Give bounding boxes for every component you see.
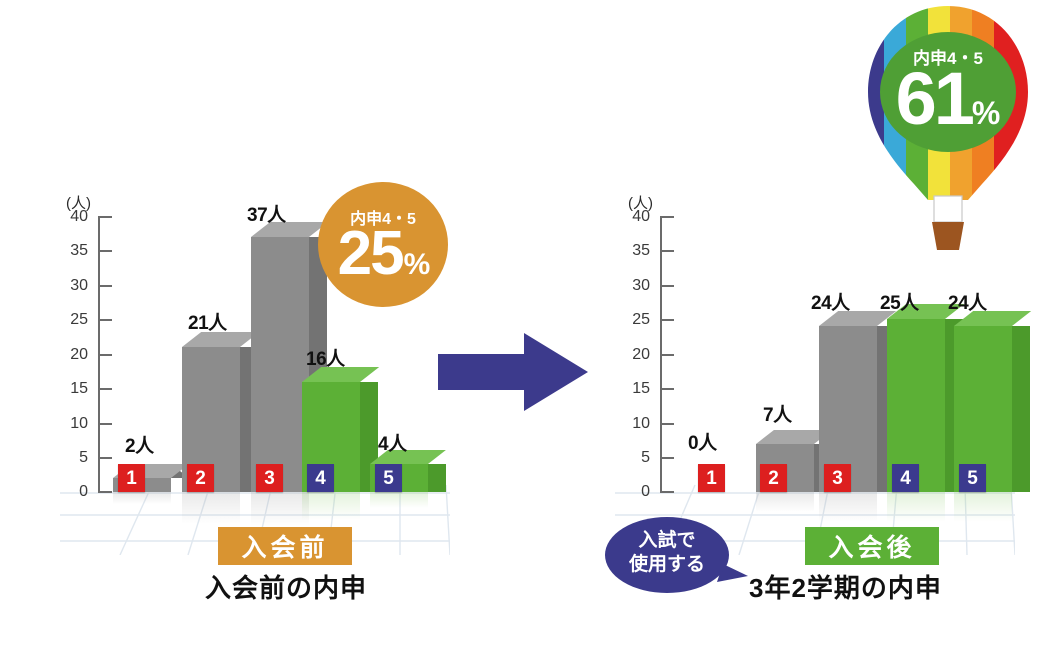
- bar-badge-2: 2: [187, 464, 214, 492]
- before-percent-badge-value: 25 %: [338, 223, 429, 285]
- left-tick-label-10: 10: [62, 415, 88, 433]
- balloon-label-disc: [880, 32, 1016, 152]
- bar-badge-2: 2: [760, 464, 787, 492]
- bar-reflection: [819, 492, 877, 522]
- right-tick-label-5: 5: [624, 449, 650, 467]
- right-tick-10: [660, 423, 674, 425]
- right-tick-15: [660, 388, 674, 390]
- before-percent-badge: 内申4・5 25 %: [318, 182, 448, 307]
- bar-front: [251, 237, 309, 492]
- bar-reflection: [954, 492, 1012, 522]
- exam-use-speech-bubble: 入試で 使用する: [605, 514, 750, 600]
- bar-value-label-1: 0人: [688, 428, 717, 455]
- left-tick-30: [98, 285, 112, 287]
- right-tick-label-15: 15: [624, 380, 650, 398]
- before-caption-text: 入会前の内申: [205, 568, 367, 605]
- right-tick-0: [660, 491, 674, 493]
- right-tick-label-25: 25: [624, 311, 650, 329]
- speech-bubble-line-1: 入試で: [605, 529, 729, 553]
- bar-value-label-3: 37人: [247, 200, 286, 227]
- bar-value-label-2: 7人: [763, 400, 792, 427]
- bar-side: [1012, 326, 1030, 492]
- left-tick-0: [98, 491, 112, 493]
- after-percent-balloon: 内申4・5 61%: [848, 0, 1048, 250]
- bar-reflection: [251, 492, 309, 526]
- right-tick-label-40: 40: [624, 208, 650, 226]
- bar-badge-4: 4: [892, 464, 919, 492]
- left-tick-25: [98, 319, 112, 321]
- before-percent-sign: %: [404, 250, 429, 280]
- bar-reflection: [302, 492, 360, 520]
- bar-reflection: [756, 492, 814, 512]
- bar-value-label-2: 21人: [188, 308, 227, 335]
- bar-badge-5: 5: [375, 464, 402, 492]
- left-tick-20: [98, 354, 112, 356]
- bar-badge-3: 3: [824, 464, 851, 492]
- infographic-canvas: (人) 40 35 30 25 20 15 10 5 0 2人 1: [0, 0, 1063, 657]
- right-tick-label-10: 10: [624, 415, 650, 433]
- right-tick-label-35: 35: [624, 242, 650, 260]
- after-caption-text: 3年2学期の内申: [749, 568, 942, 605]
- left-tick-label-20: 20: [62, 346, 88, 364]
- bar-value-label-4: 16人: [306, 344, 345, 371]
- bar-badge-5: 5: [959, 464, 986, 492]
- balloon-neck: [934, 196, 962, 222]
- before-caption-box: 入会前: [218, 527, 352, 565]
- balloon-basket: [932, 222, 964, 250]
- bar-badge-4: 4: [307, 464, 334, 492]
- bar-value-label-3: 24人: [811, 288, 850, 315]
- left-tick-label-5: 5: [62, 449, 88, 467]
- speech-bubble-line-2: 使用する: [605, 553, 729, 577]
- right-tick-30: [660, 285, 674, 287]
- left-tick-40: [98, 216, 112, 218]
- bar-badge-1: 1: [698, 464, 725, 492]
- left-tick-35: [98, 250, 112, 252]
- right-tick-label-20: 20: [624, 346, 650, 364]
- left-tick-label-15: 15: [62, 380, 88, 398]
- right-tick-20: [660, 354, 674, 356]
- left-tick-label-35: 35: [62, 242, 88, 260]
- bar-badge-3: 3: [256, 464, 283, 492]
- chart-before: (人) 40 35 30 25 20 15 10 5 0 2人 1: [0, 0, 470, 620]
- right-tick-35: [660, 250, 674, 252]
- right-tick-label-30: 30: [624, 277, 650, 295]
- right-tick-label-0: 0: [624, 483, 650, 501]
- right-tick-40: [660, 216, 674, 218]
- left-tick-label-0: 0: [62, 483, 88, 501]
- left-tick-5: [98, 457, 112, 459]
- bar-value-label-1: 2人: [125, 431, 154, 458]
- bar-badge-1: 1: [118, 464, 145, 492]
- speech-bubble-text: 入試で 使用する: [605, 529, 729, 577]
- left-tick-label-30: 30: [62, 277, 88, 295]
- before-percent-number: 25: [338, 223, 403, 285]
- left-tick-15: [98, 388, 112, 390]
- bar-before-3: [251, 222, 309, 492]
- left-tick-label-25: 25: [62, 311, 88, 329]
- bar-reflection: [370, 492, 428, 508]
- after-caption-box: 入会後: [805, 527, 939, 565]
- left-tick-10: [98, 423, 112, 425]
- bar-value-label-5: 24人: [948, 288, 987, 315]
- bar-reflection: [182, 492, 240, 524]
- bar-value-label-4: 25人: [880, 288, 919, 315]
- right-tick-25: [660, 319, 674, 321]
- left-tick-label-40: 40: [62, 208, 88, 226]
- bar-reflection: [887, 492, 945, 522]
- bar-value-label-5: 4人: [378, 429, 407, 456]
- bar-side: [428, 464, 446, 492]
- right-tick-5: [660, 457, 674, 459]
- bar-reflection: [113, 492, 171, 504]
